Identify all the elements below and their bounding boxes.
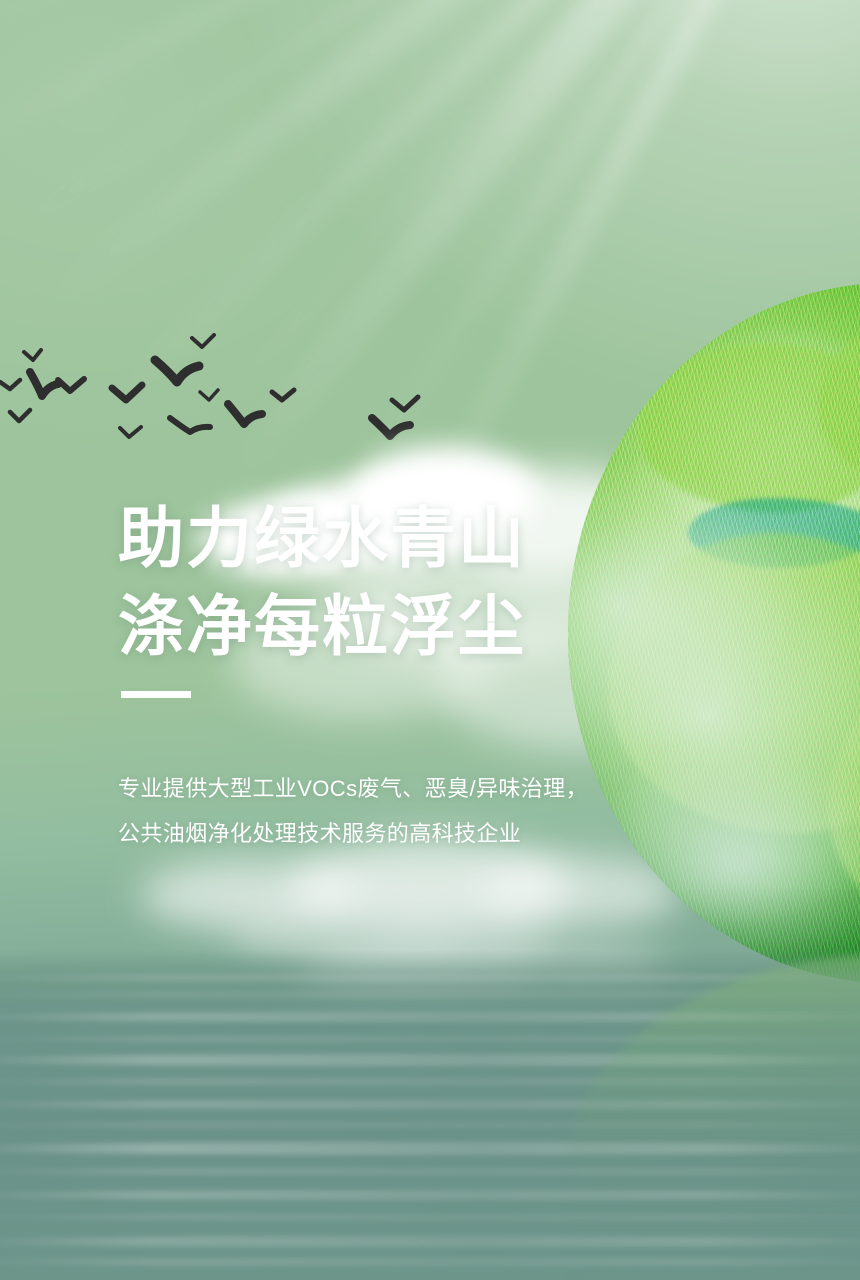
subtitle-line-1: 专业提供大型工业VOCs废气、恶臭/异味治理， xyxy=(118,766,588,811)
subtitle-line-2: 公共油烟净化处理技术服务的高科技企业 xyxy=(118,811,588,856)
headline-line-1: 助力绿水青山 xyxy=(118,494,526,582)
subtitle: 专业提供大型工业VOCs废气、恶臭/异味治理， 公共油烟净化处理技术服务的高科技… xyxy=(118,766,588,856)
title-divider xyxy=(121,691,191,698)
headline-line-2: 涤净每粒浮尘 xyxy=(118,582,526,670)
poster-content: 助力绿水青山 涤净每粒浮尘 专业提供大型工业VOCs废气、恶臭/异味治理， 公共… xyxy=(0,0,860,1280)
eco-promo-poster: 助力绿水青山 涤净每粒浮尘 专业提供大型工业VOCs废气、恶臭/异味治理， 公共… xyxy=(0,0,860,1280)
page-title: 助力绿水青山 涤净每粒浮尘 xyxy=(118,494,526,670)
